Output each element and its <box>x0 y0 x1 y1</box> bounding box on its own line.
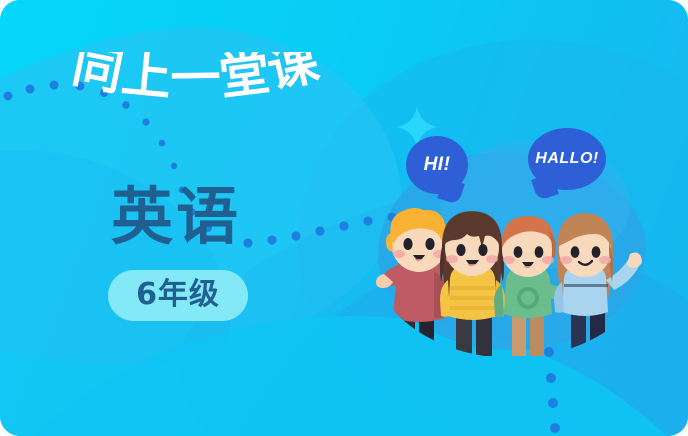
speech-bubble-hi-text: HI! <box>424 154 451 176</box>
course-cover-card: 同上一堂课 同上一堂课 英语 6年级 HI! HALLO! <box>0 0 688 436</box>
speech-bubble-hallo-text: HALLO! <box>535 150 598 168</box>
grade-badge[interactable]: 6年级 <box>108 270 248 321</box>
svg-text:同上一堂课: 同上一堂课 <box>68 52 325 107</box>
child-girl-brunette <box>440 211 505 356</box>
four-children-illustration <box>372 186 652 356</box>
speech-bubble-hallo: HALLO! <box>528 128 606 190</box>
page-title-artwork: 同上一堂课 同上一堂课 <box>46 52 346 138</box>
page-title: 同上一堂课 同上一堂课 <box>46 52 346 138</box>
child-girl-lightbrown <box>554 213 642 356</box>
page-title-text: 同上一堂课 <box>68 52 325 107</box>
text-block: 同上一堂课 同上一堂课 英语 6年级 <box>0 0 360 436</box>
child-boy-blond <box>376 208 447 356</box>
subject-title: 英语 <box>0 186 352 248</box>
